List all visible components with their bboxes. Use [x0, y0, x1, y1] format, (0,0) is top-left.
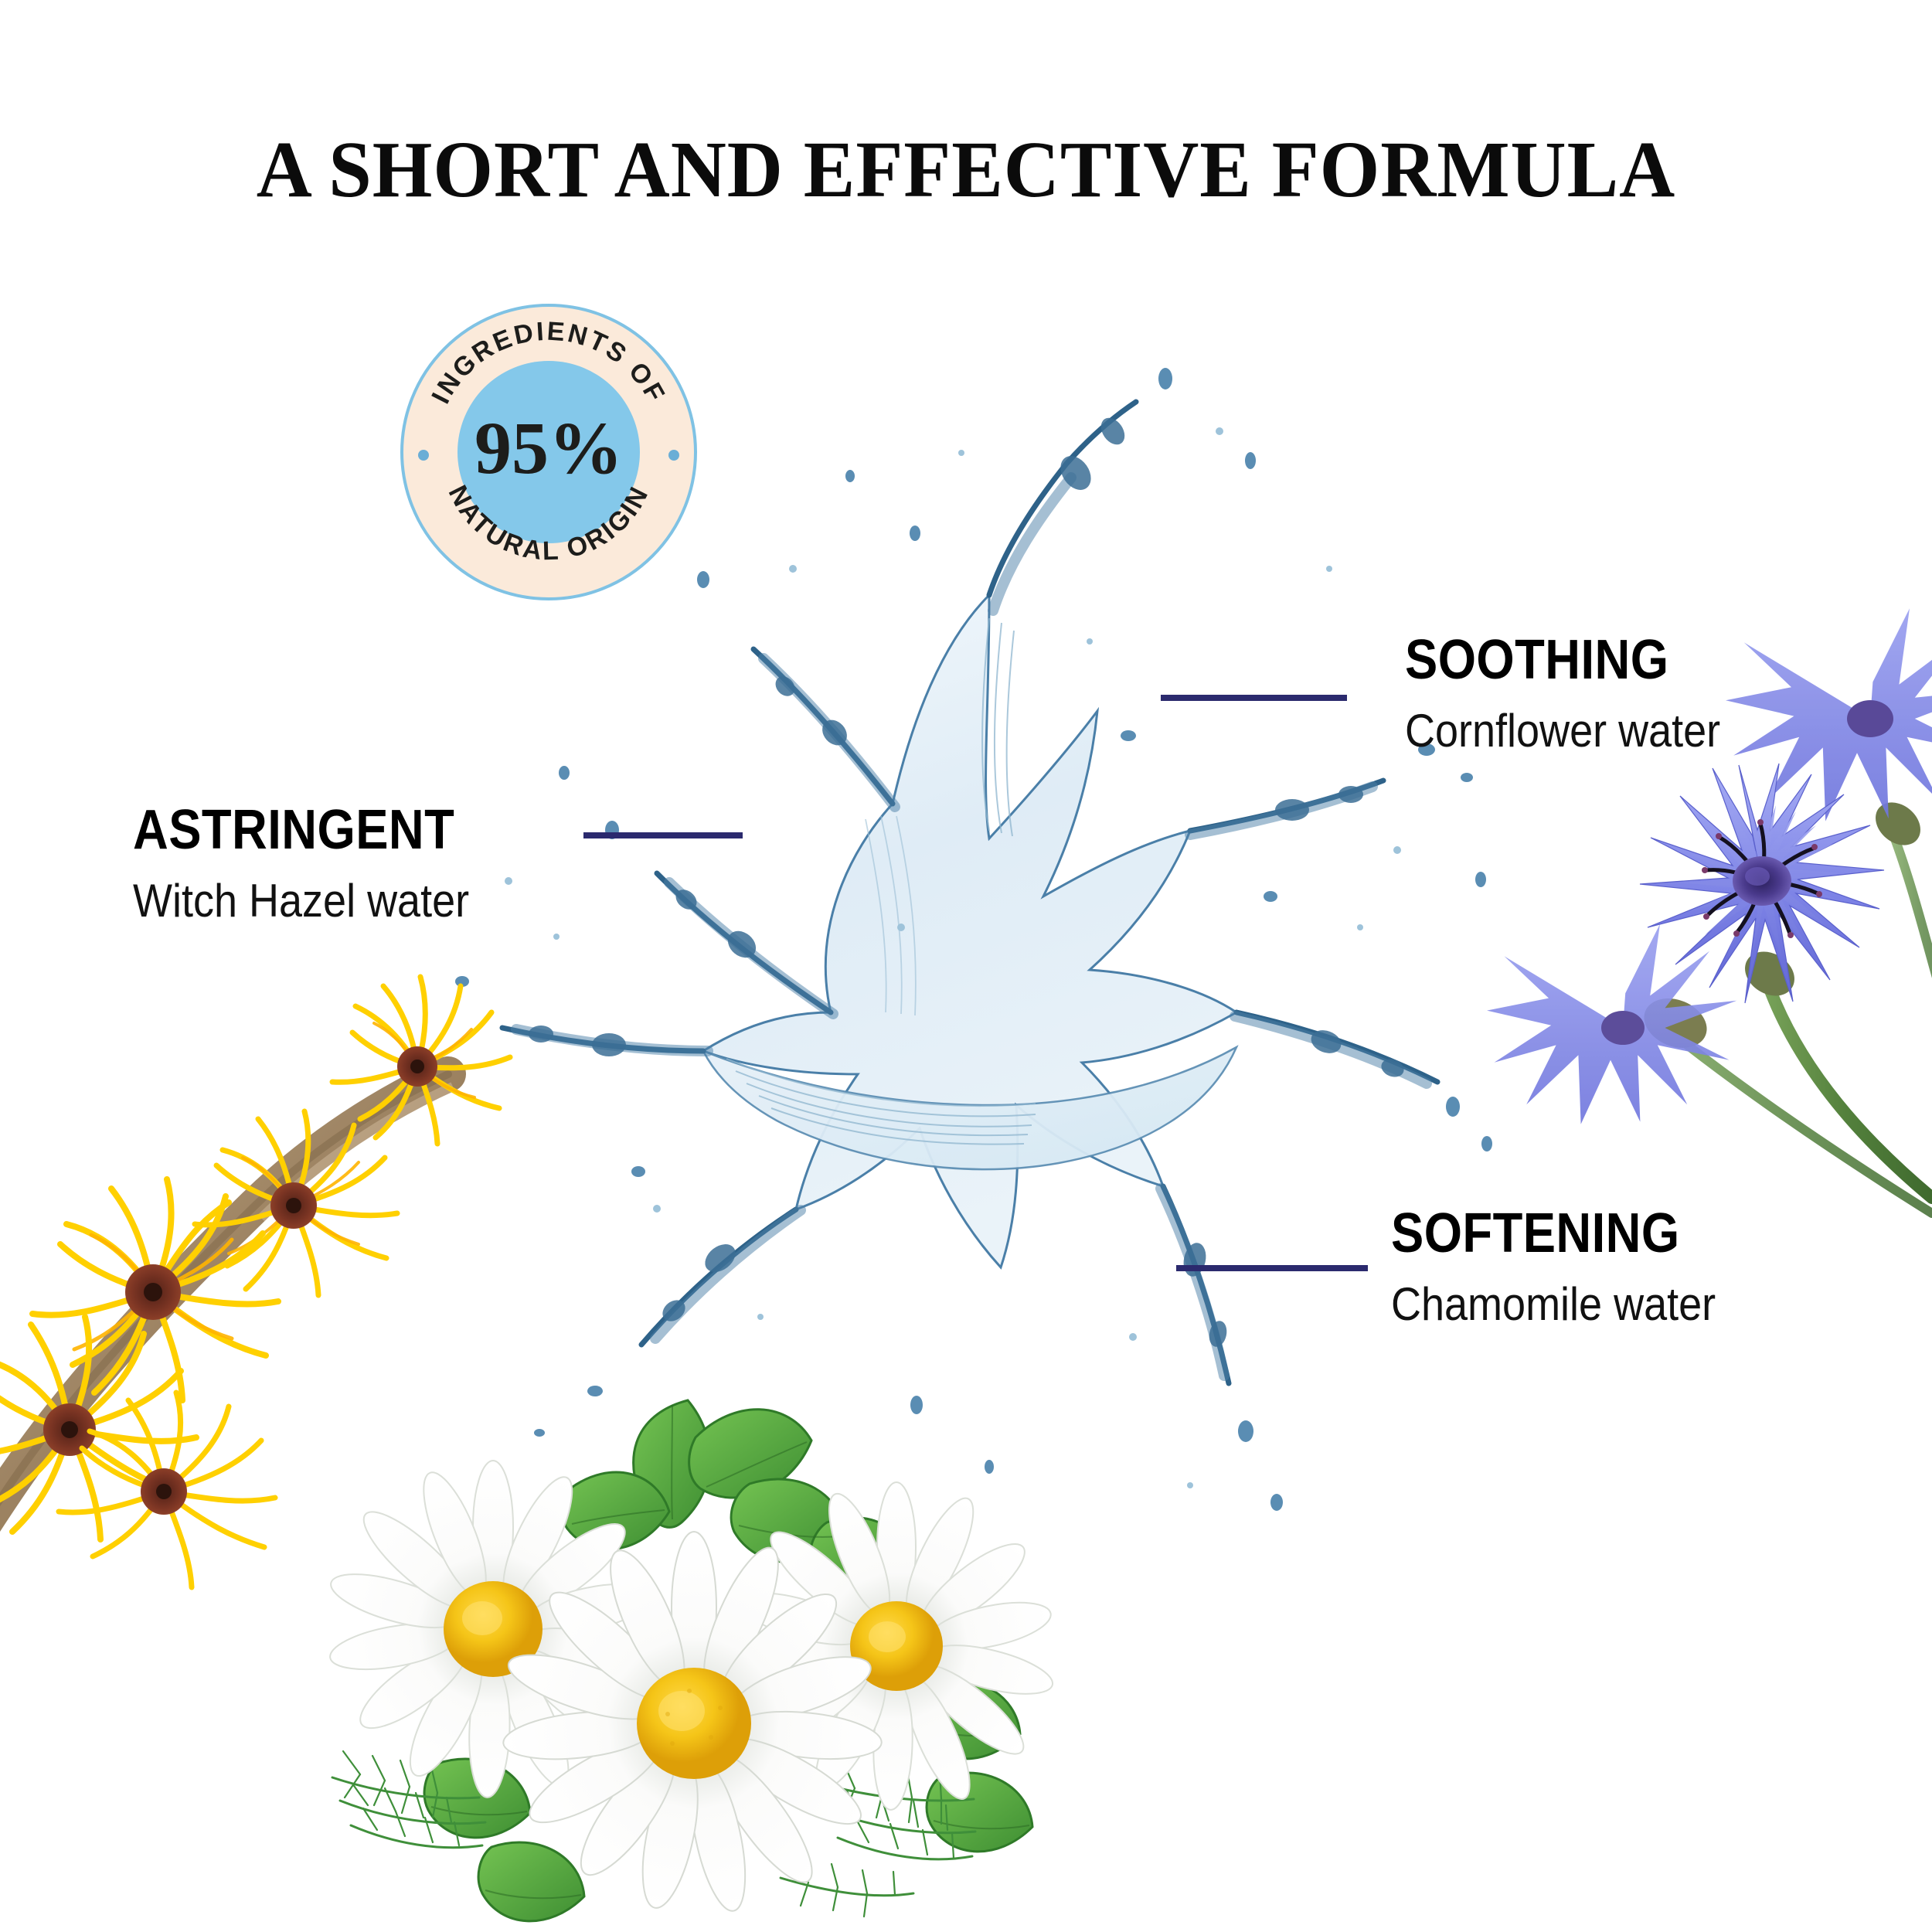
leader-line-astringent	[583, 832, 743, 838]
callout-astringent: ASTRINGENT Witch Hazel water	[133, 802, 506, 924]
cornflower-illustration	[1530, 641, 1932, 1229]
chamomile-illustration	[286, 1414, 1097, 1932]
leader-line-soothing	[1161, 695, 1347, 701]
natural-origin-badge: INGREDIENTS OF NATURAL ORIGIN 95%	[400, 303, 698, 601]
callout-softening-subtext: Chamomile water	[1391, 1281, 1716, 1328]
badge-percent-value: 95%	[474, 406, 623, 489]
leader-line-softening	[1176, 1265, 1368, 1271]
infographic-root: A SHORT AND EFFECTIVE FORMULA	[0, 0, 1932, 1932]
callout-astringent-subtext: Witch Hazel water	[133, 878, 469, 924]
callout-astringent-heading: ASTRINGENT	[133, 802, 461, 858]
page-title: A SHORT AND EFFECTIVE FORMULA	[39, 124, 1893, 216]
